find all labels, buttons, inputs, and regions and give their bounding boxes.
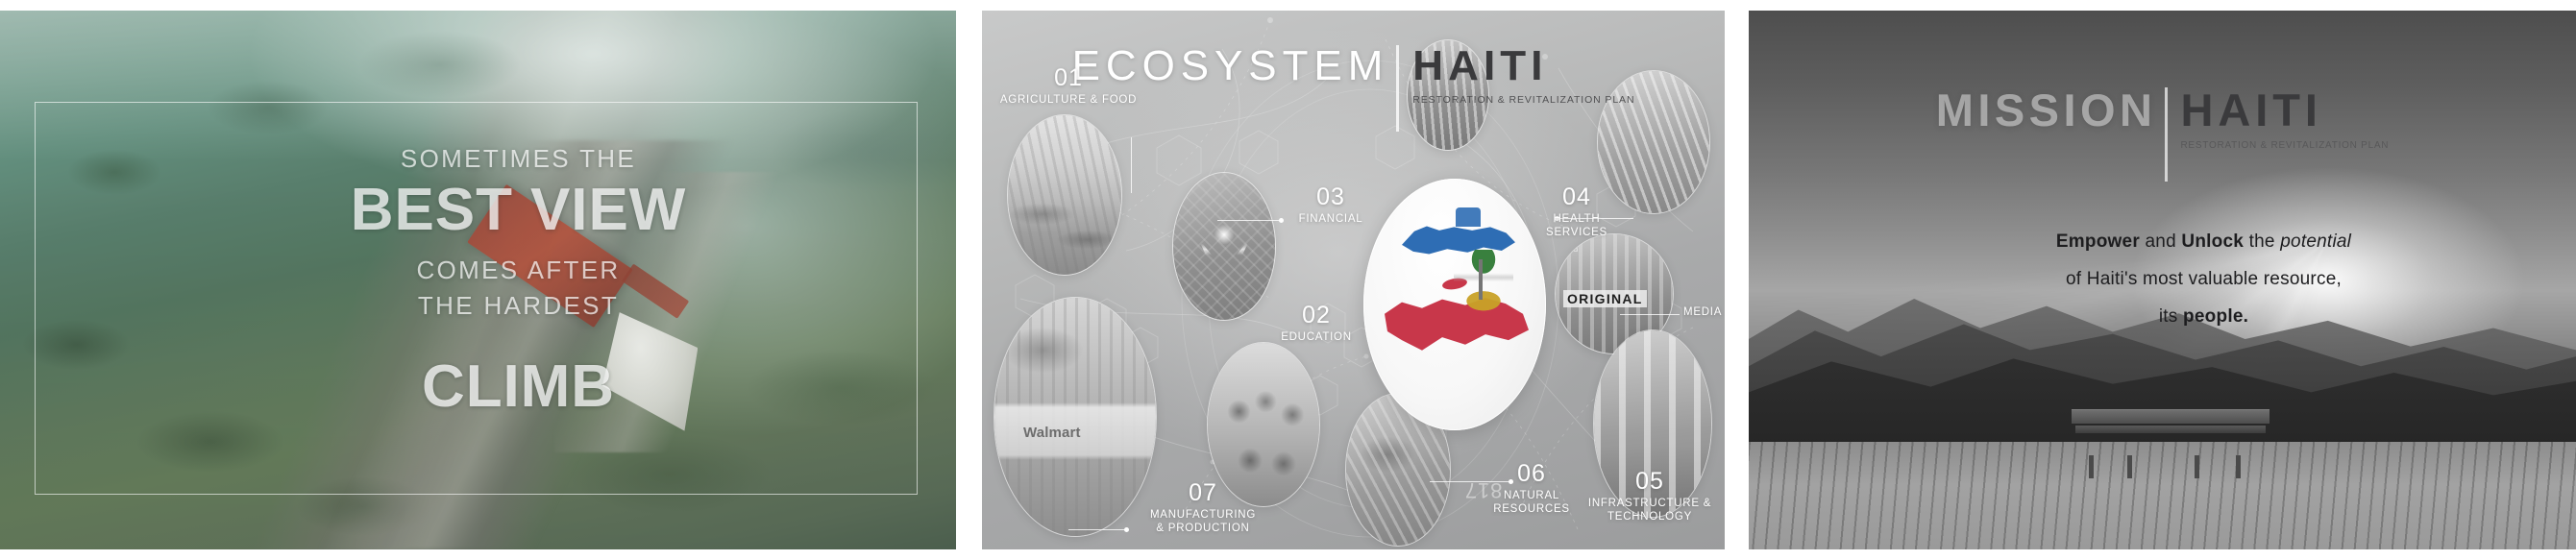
bench-leg: [2236, 455, 2241, 478]
quote-word-people: people.: [2183, 306, 2248, 327]
quote-line-2: of Haiti's most valuable resource,: [1864, 261, 2543, 299]
mission-subtitle: RESTORATION & REVITALIZATION PLAN: [2180, 140, 2389, 151]
bubble-retail-caption: Walmart: [1023, 425, 1081, 441]
climb-line-3: COMES AFTER: [81, 253, 956, 288]
node-07-number: 07: [1126, 481, 1280, 505]
climb-line-5: CLIMB: [81, 353, 956, 421]
node-media-label[interactable]: MEDIA: [1683, 306, 1722, 318]
ecosystem-subtitle: RESTORATION & REVITALIZATION PLAN: [1412, 94, 1634, 106]
bubble-media-original-caption: ORIGINAL: [1563, 290, 1647, 307]
mission-title-block: MISSION HAITI RESTORATION & REVITALIZATI…: [1749, 87, 2576, 182]
bubble-agriculture-landscape[interactable]: [1007, 114, 1122, 276]
connector-line-01: [1131, 137, 1132, 193]
quote-word-unlock: Unlock: [2181, 231, 2244, 252]
resource-number-watermark: 817: [1464, 477, 1502, 502]
slide-panel-ecosystem-haiti[interactable]: Walmart and ORIGINAL: [982, 11, 1725, 549]
haiti-map-bubble[interactable]: [1363, 179, 1546, 430]
bench-leg: [2089, 455, 2094, 478]
mission-title-left: MISSION: [1936, 87, 2157, 133]
bubble-media-brand-caption: and: [1564, 244, 1578, 254]
node-01-agriculture-food[interactable]: 01 AGRICULTURE & FOOD: [988, 66, 1149, 107]
haiti-map-flag-cap: [1456, 207, 1481, 227]
title-divider-bar: [2165, 87, 2168, 182]
mission-statement-quote: Empower and Unlock the potential of Hait…: [1749, 224, 2576, 336]
quote-word-empower: Empower: [2056, 231, 2140, 252]
node-04-health-services[interactable]: 04 HEALTH SERVICES: [1520, 185, 1633, 240]
node-02-number: 02: [1259, 304, 1374, 328]
ecosystem-title-right: HAITI: [1412, 45, 1547, 87]
slide-panel-mission-haiti[interactable]: MISSION HAITI RESTORATION & REVITALIZATI…: [1749, 11, 2576, 549]
node-03-label: FINANCIAL: [1275, 212, 1386, 226]
bench-leg: [2127, 455, 2132, 478]
connector-line-07: [1068, 529, 1126, 530]
quote-word-potential: potential: [2280, 231, 2351, 252]
quote-line-1: Empower and Unlock the potential: [1864, 224, 2543, 261]
node-02-education[interactable]: 02 EDUCATION: [1259, 304, 1374, 344]
park-bench: [2072, 409, 2270, 457]
title-divider-bar: [1396, 45, 1399, 132]
slide-panel-best-view-climb[interactable]: SOMETIMES THE BEST VIEW COMES AFTER THE …: [0, 11, 956, 549]
wooden-deck-foreground: [1749, 442, 2576, 549]
node-05-infrastructure-technology[interactable]: 05 INFRASTRUCTURE & TECHNOLOGY: [1578, 470, 1722, 524]
node-04-number: 04: [1520, 185, 1633, 209]
quote-word-and: and: [2145, 231, 2175, 252]
node-07-label: MANUFACTURING & PRODUCTION: [1126, 508, 1280, 536]
node-05-number: 05: [1578, 470, 1722, 494]
bench-seat: [2075, 426, 2266, 433]
node-07-manufacturing-production[interactable]: 07 MANUFACTURING & PRODUCTION: [1126, 481, 1280, 536]
climb-line-4: THE HARDEST: [81, 288, 956, 324]
climb-caption-block: SOMETIMES THE BEST VIEW COMES AFTER THE …: [0, 145, 956, 421]
three-panel-slide-strip: SOMETIMES THE BEST VIEW COMES AFTER THE …: [0, 0, 2576, 560]
mission-title-right: HAITI: [2180, 87, 2321, 133]
quote-word-the: the: [2249, 231, 2275, 252]
node-01-label: AGRICULTURE & FOOD: [988, 93, 1149, 107]
climb-line-2: BEST VIEW: [81, 179, 956, 242]
quote-line-3: its people.: [1864, 299, 2543, 336]
connector-line-03: [1217, 220, 1281, 221]
node-04-label: HEALTH SERVICES: [1520, 212, 1633, 240]
bubble-fintech-crypto[interactable]: [1172, 172, 1276, 321]
node-01-number: 01: [988, 66, 1149, 90]
bench-leg: [2195, 455, 2199, 478]
bench-backrest: [2072, 409, 2270, 424]
node-02-label: EDUCATION: [1259, 330, 1374, 344]
haiti-coat-of-arms: [1454, 250, 1513, 319]
quote-word-its: its: [2159, 306, 2178, 327]
connector-line-media: [1620, 314, 1680, 315]
node-03-financial[interactable]: 03 FINANCIAL: [1275, 185, 1386, 226]
node-05-label: INFRASTRUCTURE & TECHNOLOGY: [1578, 497, 1722, 524]
node-03-number: 03: [1275, 185, 1386, 209]
climb-line-1: SOMETIMES THE: [81, 145, 956, 173]
